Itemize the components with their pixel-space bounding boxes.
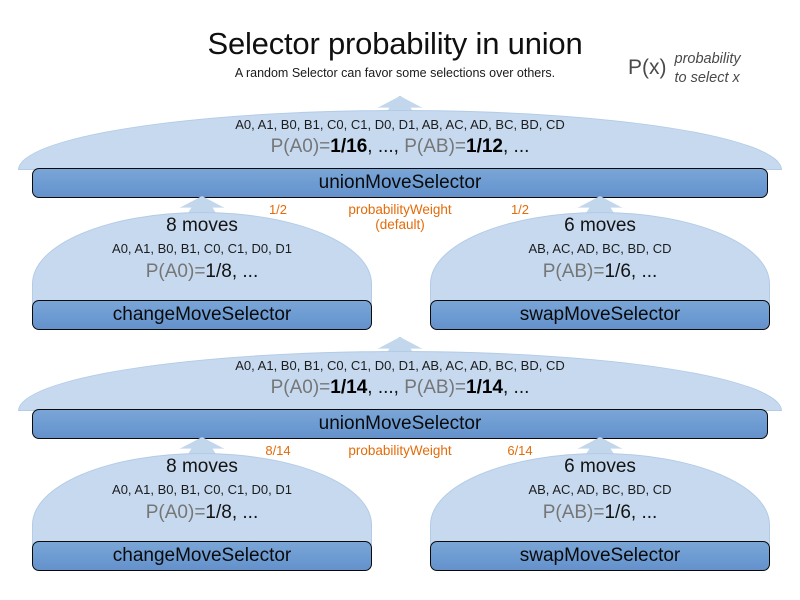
legend-symbol: P(x) <box>628 50 667 79</box>
change-move-selector-bar-1[interactable]: changeMoveSelector <box>32 300 372 330</box>
swap-dome-2 <box>430 453 770 545</box>
swap-move-selector-bar-1[interactable]: swapMoveSelector <box>430 300 770 330</box>
swap-move-selector-bar-2[interactable]: swapMoveSelector <box>430 541 770 571</box>
legend-line-1: probability <box>675 50 741 69</box>
change-dome-2 <box>32 453 372 545</box>
weight-note-1: (default) <box>320 217 480 232</box>
swap-dome-1 <box>430 212 770 304</box>
header: Selector probability in union A random S… <box>0 0 800 100</box>
union-dome-1 <box>18 110 782 170</box>
weight-name-2: probabilityWeight <box>320 443 480 458</box>
union-move-selector-bar-2[interactable]: unionMoveSelector <box>32 409 768 439</box>
union-dome-2 <box>18 351 782 411</box>
weight-left-1: 1/2 <box>248 202 308 217</box>
change-move-selector-bar-2[interactable]: changeMoveSelector <box>32 541 372 571</box>
weight-name-text-2: probabilityWeight <box>348 443 451 458</box>
legend-description: probability to select x <box>675 50 741 88</box>
legend: P(x) probability to select x <box>628 50 741 88</box>
weight-right-1: 1/2 <box>490 202 550 217</box>
weight-name-1: probabilityWeight (default) <box>320 202 480 232</box>
weight-right-2: 6/14 <box>490 443 550 458</box>
legend-line-2: to select x <box>675 69 741 88</box>
weight-left-2: 8/14 <box>248 443 308 458</box>
union-move-selector-bar-1[interactable]: unionMoveSelector <box>32 168 768 198</box>
weight-name-text-1: probabilityWeight <box>348 202 451 217</box>
